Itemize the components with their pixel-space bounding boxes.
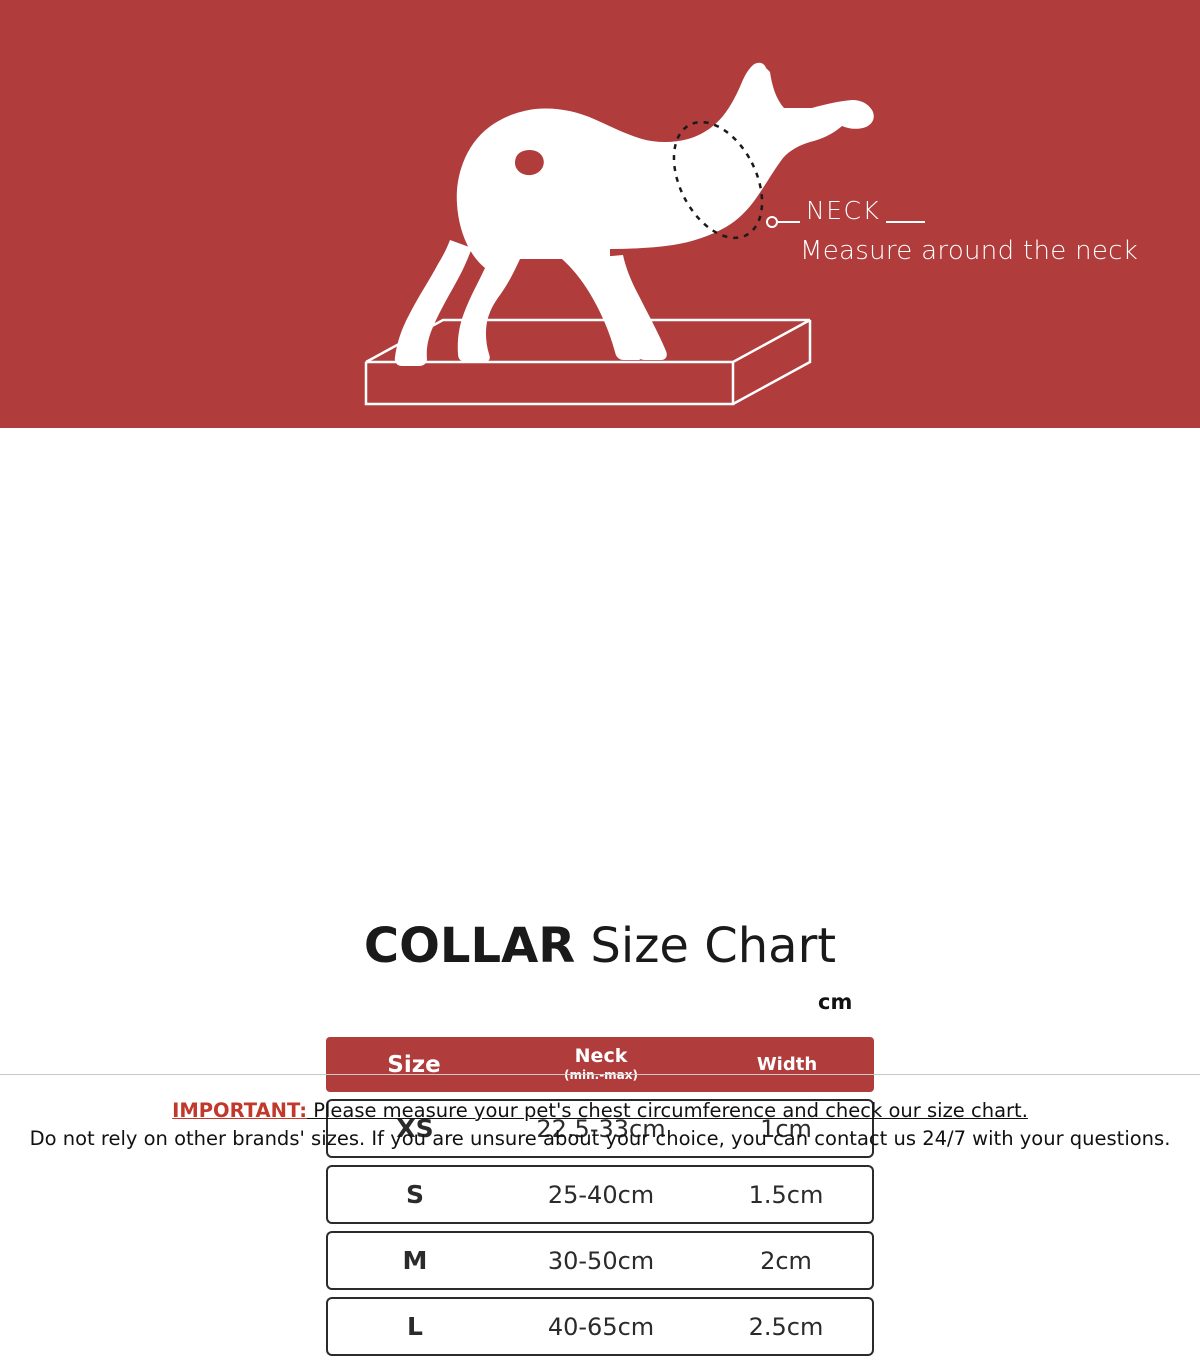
cell-size: S [326, 1165, 502, 1224]
cell-width: 2.5cm [700, 1297, 874, 1356]
cell-width: 1.5cm [700, 1165, 874, 1224]
shoulder-notch [515, 150, 544, 175]
neck-caption: Measure around the neck [800, 236, 1138, 266]
footer-line-2: Do not rely on other brands' sizes. If y… [0, 1125, 1200, 1153]
size-chart-page: NECK Measure around the neck COLLAR Size… [0, 0, 1200, 1200]
page-title: COLLAR Size Chart [0, 918, 1200, 974]
cell-width: 2cm [700, 1231, 874, 1290]
cell-neck: 40-65cm [502, 1297, 700, 1356]
footer-note: IMPORTANT: Please measure your pet's che… [0, 1074, 1200, 1154]
cell-size: M [326, 1231, 502, 1290]
unit-label: cm [818, 990, 852, 1014]
cell-size: L [326, 1297, 502, 1356]
footer-line-1: Please measure your pet's chest circumfe… [307, 1099, 1028, 1122]
table-row: L 40-65cm 2.5cm [326, 1297, 874, 1356]
neck-label: NECK [806, 196, 880, 225]
chart-section: COLLAR Size Chart cm Size Neck (min.-max… [0, 428, 1200, 1068]
table-row: S 25-40cm 1.5cm [326, 1165, 874, 1224]
page-title-rest: Size Chart [575, 918, 836, 974]
cell-neck: 30-50cm [502, 1231, 700, 1290]
cell-neck: 25-40cm [502, 1165, 700, 1224]
neck-pointer-dot [767, 217, 777, 227]
hero-banner: NECK Measure around the neck [0, 0, 1200, 428]
footer-important-label: IMPORTANT: [172, 1099, 307, 1122]
page-title-strong: COLLAR [364, 918, 575, 974]
dog-illustration [0, 0, 1200, 428]
pedestal-box [366, 320, 810, 404]
header-neck-text: Neck [575, 1045, 628, 1067]
table-row: M 30-50cm 2cm [326, 1231, 874, 1290]
